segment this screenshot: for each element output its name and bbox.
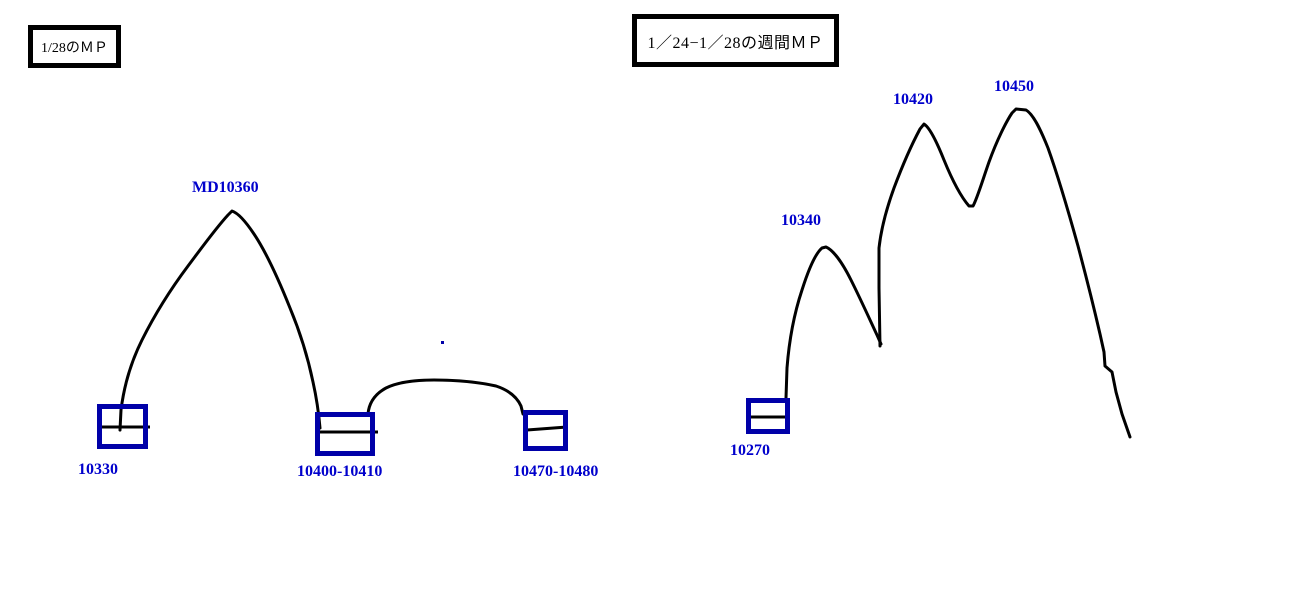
right-value-label-10340: 10340 (781, 212, 821, 230)
left-secondary-plateau-curve (368, 380, 523, 414)
left-panel-title-text: 1/28のＭＰ (41, 37, 108, 57)
left-value-label-10470-10480: 10470-10480 (513, 463, 598, 481)
sketch-canvas: 1/28のＭＰ MD10360 10330 10400-10410 10470-… (0, 0, 1300, 608)
left-panel-title-box: 1/28のＭＰ (28, 25, 121, 68)
right-panel-title-box: 1／24−1／28の週間ＭＰ (632, 14, 839, 67)
poc-box-10270[interactable] (746, 398, 790, 434)
right-value-label-10270: 10270 (730, 442, 770, 460)
stray-dot-artifact (441, 341, 444, 344)
right-double-peak-curve (879, 109, 1130, 437)
left-main-peak-curve (120, 211, 320, 430)
right-value-label-10450: 10450 (994, 78, 1034, 96)
right-panel-title-text: 1／24−1／28の週間ＭＰ (647, 29, 823, 53)
left-value-label-10400-10410: 10400-10410 (297, 463, 382, 481)
left-value-label-10330: 10330 (78, 461, 118, 479)
poc-box-10400-10410[interactable] (315, 412, 375, 456)
chart-strokes-layer (0, 0, 1300, 608)
right-first-bump-curve (786, 247, 881, 398)
poc-box-10470-10480[interactable] (523, 410, 568, 451)
left-peak-label-md10360: MD10360 (192, 179, 259, 197)
poc-box-10330[interactable] (97, 404, 148, 449)
right-value-label-10420: 10420 (893, 91, 933, 109)
